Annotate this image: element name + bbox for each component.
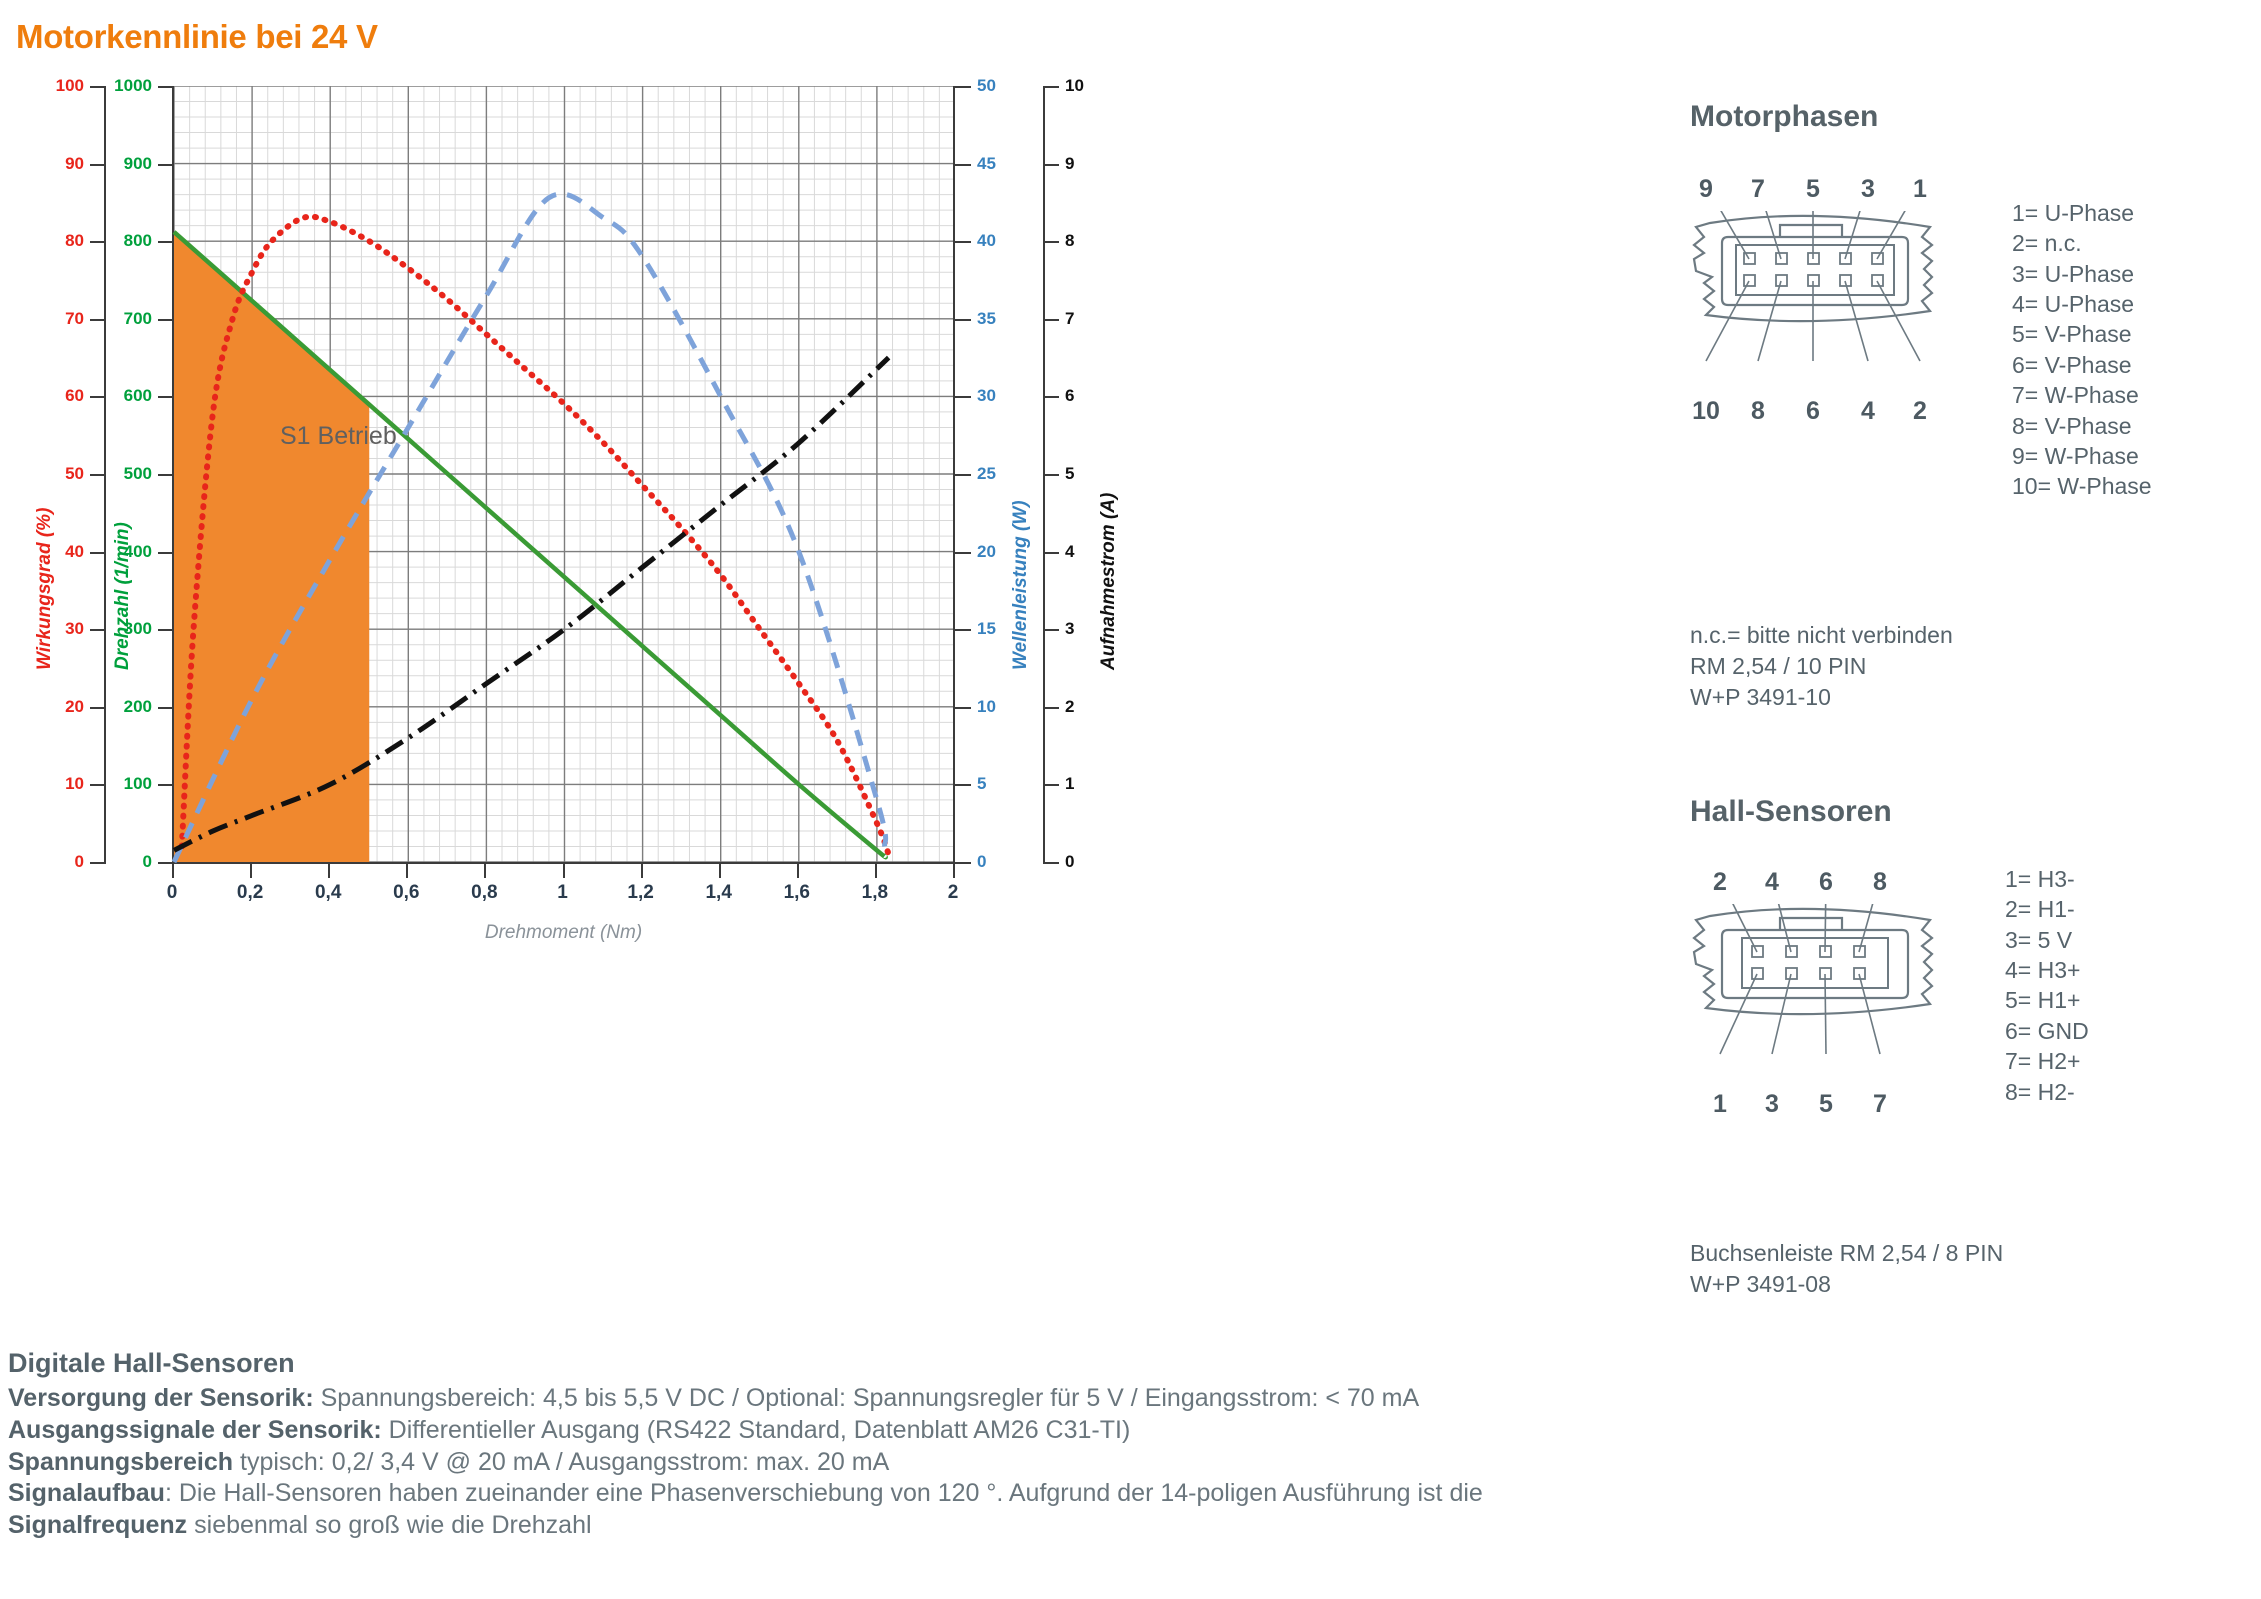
axis-tick-label: 600 — [124, 386, 152, 406]
axis-tick-label: 90 — [65, 154, 84, 174]
axis-tick-label: 500 — [124, 464, 152, 484]
axis-tick-label: 9 — [1065, 154, 1074, 174]
motorphasen-block: Motorphasen — [1690, 100, 1878, 134]
x-axis-tick-label: 0,2 — [237, 882, 263, 904]
hallsensoren-notes: Buchsenleiste RM 2,54 / 8 PIN W+P 3491-0… — [1690, 1238, 2003, 1300]
axis-tick-label: 3 — [1065, 619, 1074, 639]
x-axis-tick — [563, 864, 565, 878]
x-axis-tick — [172, 864, 174, 878]
axis-tick-label: 200 — [124, 697, 152, 717]
spec-line-value: typisch: 0,2/ 3,4 V @ 20 mA / Ausgangsst… — [233, 1448, 889, 1476]
axis-tick — [955, 552, 971, 554]
axis-title-wellenleistung: Wellenleistung (W) — [1010, 500, 1032, 670]
axis-title-drehzahl: Drehzahl (1/min) — [112, 522, 134, 670]
axis-tick-label: 80 — [65, 231, 84, 251]
x-axis-ticks: 00,20,40,60,811,21,41,61,82 — [172, 864, 955, 924]
axis-tick-label: 0 — [143, 852, 152, 872]
axis-tick-label: 10 — [65, 774, 84, 794]
x-axis-tick — [797, 864, 799, 878]
axis-tick — [955, 629, 971, 631]
x-axis-tick — [875, 864, 877, 878]
axis-tick — [1043, 862, 1059, 864]
spec-line-label: Versorgung der Sensorik: — [8, 1384, 314, 1412]
axis-tick-label: 30 — [65, 619, 84, 639]
connector-outline-10pin — [1680, 211, 1950, 451]
axis-tick-label: 0 — [977, 852, 986, 872]
axis-wirkungsgrad: 0102030405060708090100 — [40, 86, 106, 862]
x-axis-tick-label: 1,6 — [784, 882, 810, 904]
axis-tick — [955, 319, 971, 321]
axis-tick-label: 15 — [977, 619, 996, 639]
x-axis-tick-label: 1,4 — [705, 882, 731, 904]
connector-pin-number: 4 — [1752, 868, 1792, 897]
axis-tick-label: 50 — [977, 76, 996, 96]
connector-pin-number: 1 — [1900, 175, 1940, 204]
spec-line-value: siebenmal so groß wie die Drehzahl — [187, 1511, 591, 1539]
axis-tick-label: 1 — [1065, 774, 1074, 794]
x-axis-tick-label: 0,6 — [393, 882, 419, 904]
axis-tick-label: 40 — [65, 542, 84, 562]
spec-line-value: Spannungsbereich: 4,5 bis 5,5 V DC / Opt… — [314, 1384, 1420, 1412]
axis-tick-label: 2 — [1065, 697, 1074, 717]
axis-tick — [955, 396, 971, 398]
axis-tick — [1043, 241, 1059, 243]
x-axis-tick — [953, 864, 955, 878]
axis-tick-label: 20 — [65, 697, 84, 717]
axis-tick-label: 60 — [65, 386, 84, 406]
axis-tick-label: 40 — [977, 231, 996, 251]
connector-pin-number: 7 — [1738, 175, 1778, 204]
axis-tick — [1043, 474, 1059, 476]
x-axis-tick — [250, 864, 252, 878]
axis-tick-label: 10 — [1065, 76, 1084, 96]
motorphasen-notes: n.c.= bitte nicht verbinden RM 2,54 / 10… — [1690, 620, 1953, 713]
axis-tick-label: 100 — [124, 774, 152, 794]
axis-tick — [90, 862, 106, 864]
digital-hall-sensor-specs: Digitale Hall-Sensoren Versorgung der Se… — [8, 1348, 2253, 1542]
axis-tick-label: 5 — [1065, 464, 1074, 484]
axis-tick-label: 1000 — [114, 76, 152, 96]
x-axis-tick-label: 1 — [557, 882, 568, 904]
axis-tick-label: 700 — [124, 309, 152, 329]
axis-tick-label: 4 — [1065, 542, 1074, 562]
x-axis-tick-label: 0,4 — [315, 882, 341, 904]
spec-line: Ausgangssignale der Sensorik: Differenti… — [8, 1415, 2253, 1447]
spec-line-label: Spannungsbereich — [8, 1448, 233, 1476]
spec-line-label: Signalfrequenz — [8, 1511, 187, 1539]
axis-tick — [955, 474, 971, 476]
axis-tick — [1043, 319, 1059, 321]
x-axis-tick-label: 1,8 — [862, 882, 888, 904]
axis-tick-label: 800 — [124, 231, 152, 251]
x-axis-tick-label: 1,2 — [627, 882, 653, 904]
axis-tick — [955, 86, 971, 88]
axis-title-aufnahmestrom: Aufnahmestrom (A) — [1098, 493, 1120, 670]
x-axis-tick — [406, 864, 408, 878]
axis-tick — [955, 164, 971, 166]
axis-tick-label: 6 — [1065, 386, 1074, 406]
axis-tick — [1043, 552, 1059, 554]
hallsensoren-connector-diagram: 2468 1357 — [1680, 868, 1950, 1168]
connector-outline-8pin — [1680, 904, 1950, 1144]
specs-lines: Versorgung der Sensorik: Spannungsbereic… — [8, 1383, 2253, 1542]
axis-tick — [955, 241, 971, 243]
spec-line-label: Ausgangssignale der Sensorik: — [8, 1416, 382, 1444]
axis-tick-label: 900 — [124, 154, 152, 174]
spec-line: Spannungsbereich typisch: 0,2/ 3,4 V @ 2… — [8, 1447, 2253, 1479]
x-axis-tick — [719, 864, 721, 878]
axis-tick-label: 45 — [977, 154, 996, 174]
x-axis-tick-label: 2 — [948, 882, 959, 904]
spec-line: Signalaufbau: Die Hall-Sensoren haben zu… — [8, 1478, 2253, 1510]
axis-tick-label: 35 — [977, 309, 996, 329]
axis-tick — [1043, 86, 1059, 88]
spec-line: Versorgung der Sensorik: Spannungsbereic… — [8, 1383, 2253, 1415]
connector-pin-number: 2 — [1700, 868, 1740, 897]
axis-tick-label: 25 — [977, 464, 996, 484]
axis-tick — [955, 862, 971, 864]
spec-line: Signalfrequenz siebenmal so groß wie die… — [8, 1510, 2253, 1542]
axis-tick — [955, 707, 971, 709]
connector-pin-number: 5 — [1793, 175, 1833, 204]
s1-region-label: S1 Betrieb — [280, 422, 397, 451]
spec-line-value: Differentieller Ausgang (RS422 Standard,… — [382, 1416, 1131, 1444]
connector-pin-number: 6 — [1806, 868, 1846, 897]
axis-title-wirkungsgrad: Wirkungsgrad (%) — [34, 508, 56, 670]
specs-heading: Digitale Hall-Sensoren — [8, 1348, 2253, 1379]
axis-tick-label: 7 — [1065, 309, 1074, 329]
page-title: Motorkennlinie bei 24 V — [16, 18, 378, 56]
motorphasen-connector-diagram: 97531 108642 — [1680, 175, 1950, 475]
axis-wellenleistung: 05101520253035404550 — [955, 86, 1025, 862]
x-axis-tick — [484, 864, 486, 878]
motor-characteristic-chart: 0102030405060708090100 Wirkungsgrad (%) … — [0, 70, 1600, 950]
x-axis-tick — [641, 864, 643, 878]
axis-tick-label: 70 — [65, 309, 84, 329]
motorphasen-pin-legend: 1= U-Phase 2= n.c. 3= U-Phase 4= U-Phase… — [2012, 198, 2152, 502]
axis-tick-label: 0 — [75, 852, 84, 872]
spec-line-value: : Die Hall-Sensoren haben zueinander ein… — [165, 1479, 1483, 1507]
axis-tick-label: 5 — [977, 774, 986, 794]
hallsensoren-pin-legend: 1= H3- 2= H1- 3= 5 V 4= H3+ 5= H1+ 6= GN… — [2005, 864, 2089, 1107]
axis-tick-label: 10 — [977, 697, 996, 717]
axis-tick — [1043, 164, 1059, 166]
hallsensoren-title: Hall-Sensoren — [1690, 795, 1892, 829]
axis-tick-label: 8 — [1065, 231, 1074, 251]
axis-title-drehmoment: Drehmoment (Nm) — [172, 922, 955, 944]
axis-tick — [955, 784, 971, 786]
plot-canvas — [172, 86, 955, 864]
spec-line-label: Signalaufbau — [8, 1479, 165, 1507]
x-axis-tick-label: 0,8 — [471, 882, 497, 904]
motorphasen-title: Motorphasen — [1690, 100, 1878, 134]
axis-tick-label: 0 — [1065, 852, 1074, 872]
axis-tick — [1043, 396, 1059, 398]
x-axis-tick-label: 0 — [167, 882, 178, 904]
axis-tick-label: 30 — [977, 386, 996, 406]
connector-pin-number: 8 — [1860, 868, 1900, 897]
curve-layer — [174, 86, 955, 862]
axis-tick — [1043, 784, 1059, 786]
hallsensoren-block: Hall-Sensoren — [1690, 795, 1892, 829]
x-axis-tick — [328, 864, 330, 878]
axis-tick-label: 100 — [56, 76, 84, 96]
axis-tick — [1043, 707, 1059, 709]
axis-drehzahl: 01002003004005006007008009001000 — [104, 86, 174, 862]
connector-pin-number: 9 — [1686, 175, 1726, 204]
axis-tick-label: 20 — [977, 542, 996, 562]
connector-pin-number: 3 — [1848, 175, 1888, 204]
axis-tick — [1043, 629, 1059, 631]
axis-aufnahmestrom: 012345678910 — [1043, 86, 1113, 862]
axis-tick-label: 50 — [65, 464, 84, 484]
